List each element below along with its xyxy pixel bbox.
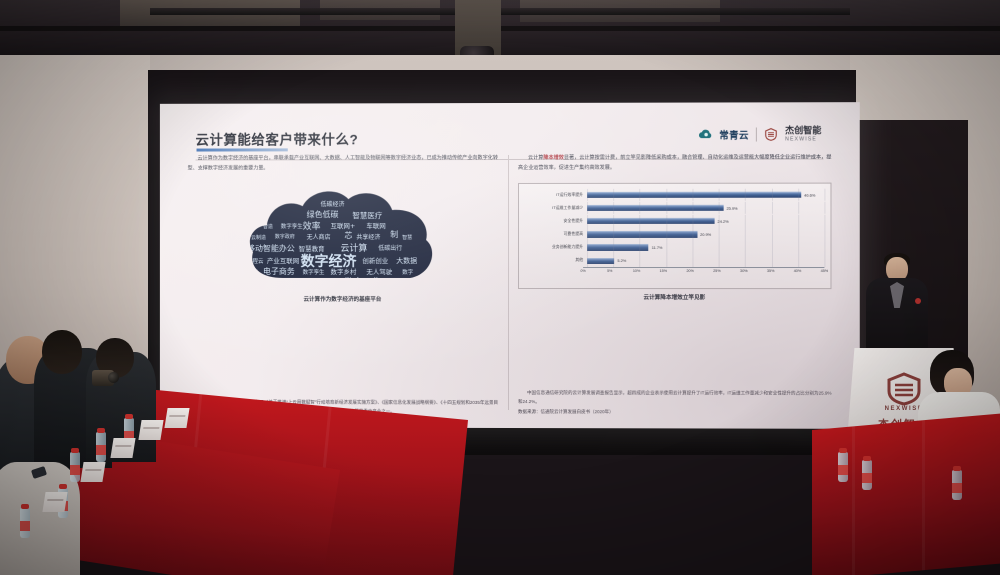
chart-gridline [640, 189, 641, 202]
svg-text:数字工业: 数字工业 [344, 276, 380, 288]
bottle-cap [863, 456, 871, 461]
bottle-label [862, 473, 872, 483]
chart-gridline [798, 202, 799, 215]
bottle-cap [125, 414, 133, 419]
water-bottle [20, 508, 30, 538]
chart-gridline [772, 254, 773, 267]
cloud-logo-icon [698, 127, 712, 141]
chart-gridline [772, 202, 773, 215]
chart-x-tick-label: 5% [607, 269, 612, 273]
svg-text:智慧教育: 智慧教育 [299, 244, 325, 253]
chart-value-label: 25.9% [726, 206, 737, 211]
svg-text:共享经济: 共享经济 [356, 233, 380, 241]
svg-text:车联网: 车联网 [366, 221, 385, 230]
svg-text:数字金融: 数字金融 [259, 279, 283, 287]
chart-bar-zone: 5.2% [587, 254, 824, 267]
chart-gridline [692, 202, 693, 215]
logo-changqingyun-label: 常青云 [719, 127, 749, 141]
chart-gridline [719, 241, 720, 254]
podium-nexwise-shield-icon [884, 372, 924, 406]
chart-gridline [640, 202, 641, 215]
chart-gridline [719, 189, 720, 202]
chart-gridline [640, 254, 641, 267]
svg-text:工程云: 工程云 [247, 257, 264, 265]
right-footnote: 中国信息通信研究院的云计算发展调查报告显示，超四成的企业表示使用云计算提升了IT… [518, 388, 831, 417]
right-paragraph-rest: 显著，云计算按需计费，前立竿见影降低采购成本，融合管理、自动化运维及运营能大幅度… [518, 154, 831, 171]
logo-divider [756, 127, 757, 141]
chart-bar [587, 231, 697, 237]
chart-value-label: 20.9% [700, 232, 711, 237]
chart-gridline [745, 202, 746, 215]
chart-gridline [587, 228, 588, 241]
nexwise-shield-icon [764, 127, 778, 141]
svg-text:云制造: 云制造 [251, 234, 266, 241]
chart-gridline [666, 254, 667, 267]
water-bottle [838, 452, 848, 482]
chart-bar-zone: 11.7% [587, 241, 824, 254]
svg-text:云计算: 云计算 [340, 242, 367, 254]
title-underline [197, 148, 288, 151]
chart-gridline [587, 215, 588, 228]
chart-gridline [613, 254, 614, 267]
camera-lens-icon [108, 372, 119, 383]
chart-gridline [772, 215, 773, 228]
slide-left-column: 云计算作为数字经济的基座平台，串联承载产业互联网、大数据、人工智能及物联网等数字… [178, 153, 508, 420]
name-card-text-line [143, 427, 159, 429]
name-card [110, 438, 135, 458]
chart-category-label: 可靠性提高 [525, 232, 587, 236]
chart-gridline [692, 189, 693, 202]
chart-gridline [719, 215, 720, 228]
svg-text:数字乡村: 数字乡村 [331, 267, 357, 276]
chart-gridline [640, 228, 641, 241]
chart-x-tick-label: 10% [633, 269, 640, 273]
water-bottle [862, 460, 872, 490]
chart-value-label: 5.2% [617, 258, 626, 263]
chart-bar-row: 业务创新能力提升11.7% [525, 241, 824, 254]
chart-value-label: 11.7% [652, 245, 663, 250]
chart-x-tick-label: 35% [767, 269, 774, 273]
chart-category-label: IT运行效率提升 [525, 193, 587, 197]
water-bottle [96, 432, 106, 462]
chart-gridline [745, 228, 746, 241]
chart-gridline [692, 215, 693, 228]
chart-category-label: 安全性提升 [525, 219, 587, 223]
chart-bar-row: IT运行效率提升40.6% [525, 189, 824, 202]
chart-bar-zone: 25.9% [587, 202, 824, 215]
chart-gridline [666, 215, 667, 228]
chart-bar [587, 257, 614, 263]
name-card [164, 408, 189, 428]
svg-text:效率: 效率 [303, 220, 321, 232]
right-paragraph: 云计算降本增效显著，云计算按需计费，前立竿见影降低采购成本，融合管理、自动化运维… [518, 152, 831, 173]
chart-gridline [613, 189, 614, 202]
left-paragraph: 云计算作为数字经济的基座平台，串联承载产业互联网、大数据、人工智能及物联网等数字… [188, 153, 498, 174]
chart-bar-row: 可靠性提高20.9% [525, 228, 824, 241]
chart-gridline [719, 254, 720, 267]
chart-gridline [772, 189, 773, 202]
svg-text:互联网+: 互联网+ [331, 221, 356, 230]
chart-x-tick-label: 25% [713, 269, 720, 273]
name-card-text-line [115, 445, 131, 447]
bottle-cap [21, 504, 29, 509]
chart-gridline [692, 228, 693, 241]
svg-text:智慧: 智慧 [402, 234, 412, 241]
logo-nexwise-cn-label: 杰创智能 [785, 126, 821, 135]
projected-slide: 云计算能给客户带来什么? 常青云 杰创智能 NEXWISE [160, 102, 860, 429]
logo-nexwise-en-label: NEXWISE [785, 137, 821, 142]
chart-gridline [613, 228, 614, 241]
svg-text:电子商务: 电子商务 [263, 266, 295, 276]
right-paragraph-emphasis: 降本增效 [543, 155, 564, 161]
slide-right-column: 云计算降本增效显著，云计算按需计费，前立竿见影降低采购成本，融合管理、自动化运维… [508, 152, 842, 420]
chart-gridline [640, 215, 641, 228]
chart-gridline [587, 254, 588, 267]
chart-gridline [692, 254, 693, 267]
svg-text:无人商店: 无人商店 [307, 233, 331, 241]
chart-x-tick-label: 20% [686, 269, 693, 273]
svg-text:绿色低碳: 绿色低碳 [307, 209, 339, 219]
bottle-cap [97, 428, 105, 433]
chart-gridline [824, 189, 825, 202]
svg-text:低碳出行: 低碳出行 [378, 244, 402, 252]
chart-bar-row: 其他5.2% [525, 254, 824, 267]
name-card [80, 462, 105, 482]
svg-text:智造: 智造 [263, 223, 273, 230]
logo-nexwise: 杰创智能 NEXWISE [785, 126, 821, 142]
head-table-right [812, 413, 1000, 575]
chart-gridline [613, 215, 614, 228]
svg-text:大数据: 大数据 [396, 256, 417, 265]
svg-text:智慧医疗: 智慧医疗 [352, 210, 382, 220]
svg-text:智能: 智能 [247, 268, 258, 276]
bottle-cap [953, 466, 961, 471]
chart-bar-zone: 24.2% [587, 215, 824, 228]
svg-text:数字: 数字 [402, 268, 413, 276]
bottle-cap [71, 448, 79, 453]
chart-bar [587, 205, 723, 211]
svg-text:数字孪生: 数字孪生 [303, 268, 325, 276]
chart-gridline [824, 202, 825, 215]
chart-gridline [640, 241, 641, 254]
bottle-label [20, 521, 30, 531]
chart-x-tick-label: 30% [740, 269, 747, 273]
right-paragraph-prefix: 云计算 [528, 155, 543, 161]
chart-gridline [745, 189, 746, 202]
chart-gridline [613, 241, 614, 254]
chart-category-label: 其他 [525, 258, 587, 262]
water-bottle [70, 452, 80, 482]
cloud-shape-icon: 低碳经济 绿色低碳 智慧医疗 智造 数字孪生 效率 互联网+ 车联网 云制造 数… [245, 182, 440, 288]
chart-gridline [587, 202, 588, 215]
camera-icon [92, 370, 114, 386]
bottle-label [952, 483, 962, 493]
audience-person-head [42, 330, 82, 374]
svg-text:低碳经济: 低碳经济 [321, 200, 345, 208]
chart-gridline [798, 254, 799, 267]
chart-plot-area: IT运行效率提升40.6%IT运维工作量减少25.9%安全性提升24.2%可靠性… [525, 189, 824, 267]
chart-gridline [798, 228, 799, 241]
chart-source-label: 数据来源：信通院云计算发展白皮书（2020年） [518, 407, 831, 417]
svg-text:VR/AR: VR/AR [295, 277, 321, 287]
chart-gridline [798, 215, 799, 228]
chart-bar-zone: 40.6% [587, 189, 824, 202]
name-card-text-line [47, 499, 63, 501]
left-figure-caption: 云计算作为数字经济的基座平台 [188, 295, 498, 303]
svg-text:创新创业: 创新创业 [362, 256, 388, 265]
chart-gridline [824, 228, 825, 241]
chart-gridline [587, 241, 588, 254]
svg-text:数字孪生: 数字孪生 [281, 222, 303, 230]
chart-gridline [824, 215, 825, 228]
chart-gridline [798, 241, 799, 254]
svg-text:5G: 5G [329, 279, 339, 287]
name-card-text-line [169, 415, 185, 417]
svg-text:制: 制 [390, 229, 398, 239]
right-footnote-text: 中国信息通信研究院的云计算发展调查报告显示，超四成的企业表示使用云计算提升了IT… [518, 390, 831, 404]
chart-gridline [798, 189, 799, 202]
bottle-label [838, 465, 848, 475]
chart-bar [587, 192, 801, 198]
svg-text:无人驾驶: 无人驾驶 [366, 267, 392, 276]
chart-gridline [772, 241, 773, 254]
chart-bar-zone: 20.9% [587, 228, 824, 241]
word-cloud-figure: 低碳经济 绿色低碳 智慧医疗 智造 数字孪生 效率 互联网+ 车联网 云制造 数… [188, 182, 498, 290]
conference-photo-scene: 云计算能给客户带来什么? 常青云 杰创智能 NEXWISE [0, 0, 1000, 575]
chart-gridline [666, 228, 667, 241]
name-card [138, 420, 163, 440]
chart-gridline [772, 228, 773, 241]
chart-x-tick-label: 40% [794, 269, 801, 273]
name-card [42, 492, 67, 512]
chart-gridline [745, 254, 746, 267]
cloth-fold [922, 420, 925, 570]
chart-gridline [613, 202, 614, 215]
bottle-label [70, 465, 80, 475]
chart-bar [587, 218, 714, 224]
chart-bar-row: 安全性提升24.2% [525, 215, 824, 228]
slide-body: 云计算作为数字经济的基座平台，串联承载产业互联网、大数据、人工智能及物联网等数字… [178, 152, 842, 420]
chart-gridline [587, 189, 588, 202]
chart-gridline [666, 241, 667, 254]
chart-gridline [666, 189, 667, 202]
svg-text:芯: 芯 [344, 230, 352, 240]
chart-value-label: 40.6% [804, 192, 815, 197]
chart-bar-row: IT运维工作量减少25.9% [525, 202, 824, 215]
chart-gridline [666, 202, 667, 215]
water-bottle [952, 470, 962, 500]
cloth-fold [852, 426, 855, 575]
chart-category-label: 业务创新能力提升 [525, 245, 587, 249]
bottle-label [96, 445, 106, 455]
slide-header: 云计算能给客户带来什么? 常青云 杰创智能 NEXWISE [178, 116, 842, 147]
chart-gridline [824, 241, 825, 254]
bar-chart: IT运行效率提升40.6%IT运维工作量减少25.9%安全性提升24.2%可靠性… [518, 182, 831, 289]
chart-gridline [719, 202, 720, 215]
svg-text:移动智能办公: 移动智能办公 [247, 243, 295, 253]
bottle-cap [839, 448, 847, 453]
audience-person-body [0, 462, 80, 575]
right-figure-caption: 云计算降本增效立竿见影 [519, 293, 830, 301]
svg-text:产业互联网: 产业互联网 [267, 256, 299, 265]
logo-group: 常青云 杰创智能 NEXWISE [698, 126, 821, 142]
chart-x-axis: 0%5%10%15%20%25%30%35%40%45% [583, 267, 824, 278]
chart-gridline [745, 241, 746, 254]
speaker-lapel-pin [915, 298, 921, 304]
name-card-text-line [85, 469, 101, 471]
page-title: 云计算能给客户带来什么? [196, 128, 359, 148]
chart-gridline [745, 215, 746, 228]
chart-x-tick-label: 15% [660, 269, 667, 273]
chart-x-tick-label: 0% [580, 269, 585, 273]
chart-gridline [692, 241, 693, 254]
chart-category-label: IT运维工作量减少 [525, 206, 587, 210]
chart-gridline [824, 254, 825, 267]
svg-text:数字政府: 数字政府 [275, 233, 295, 240]
chart-x-tick-label: 45% [821, 269, 828, 273]
bottle-cap [59, 484, 67, 489]
chart-gridline [719, 228, 720, 241]
